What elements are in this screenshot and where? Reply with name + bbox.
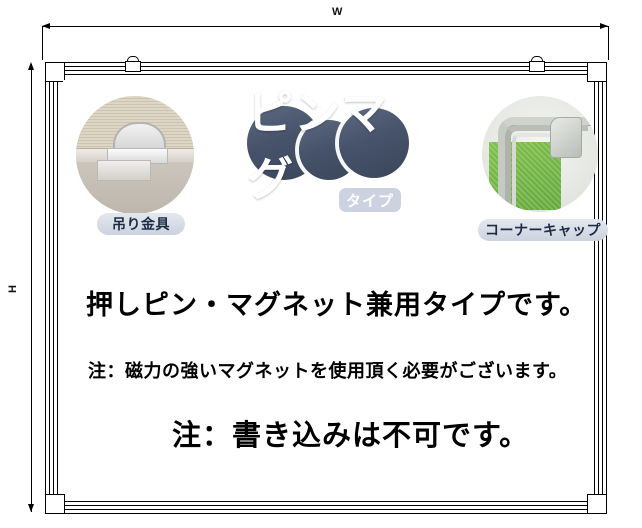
height-arrow-down-icon (28, 504, 34, 512)
logo-text: ピンマグ (247, 104, 409, 182)
width-extension-right (608, 26, 609, 60)
corner-cap-label: コーナーキャップ (478, 219, 608, 241)
frame-corner-bottom-right (587, 494, 607, 514)
note-writing-text: 注：書き込みは不可です。 (172, 412, 529, 454)
height-arrow-up-icon (28, 62, 34, 70)
hanging-hook-left-icon (124, 56, 140, 70)
frame-corner-top-right (587, 62, 607, 82)
width-arrow-left-icon (42, 23, 50, 29)
height-dimension-label: H (7, 282, 19, 296)
width-dimension-label: W (332, 6, 342, 18)
headline-text: 押しピン・マグネット兼用タイプです。 (86, 283, 587, 322)
logo-type-badge: タイプ (339, 188, 401, 212)
drawing-canvas: W H (0, 0, 642, 528)
frame-corner-bottom-left (45, 494, 65, 514)
width-arrow-right-icon (600, 23, 608, 29)
pinmag-logo: ピンマグ (247, 104, 409, 182)
corner-cap-photo (482, 96, 598, 212)
width-extension-left (42, 26, 43, 60)
height-dimension-line (31, 64, 32, 512)
width-dimension-line (42, 26, 608, 27)
hanging-bracket-photo (76, 96, 194, 214)
hanging-hardware-label: 吊り金具 (97, 213, 185, 235)
frame-corner-top-left (45, 62, 65, 82)
note-magnet-text: 注：磁力の強いマグネットを使用頂く必要がございます。 (88, 357, 567, 383)
hanging-hook-right-icon (528, 56, 544, 70)
